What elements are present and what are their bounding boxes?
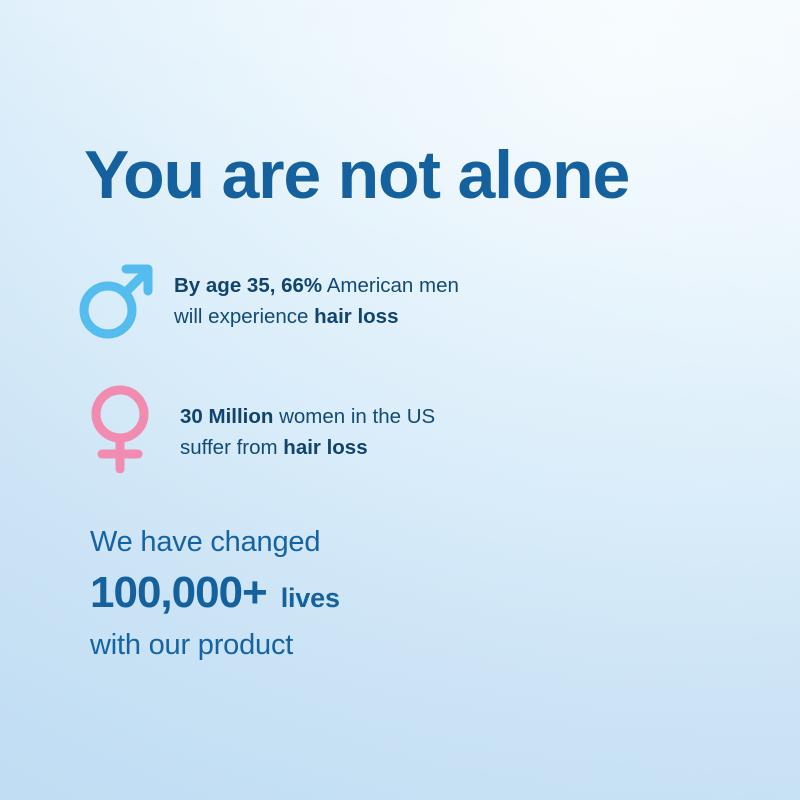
lives-changed-count: 100,000+	[90, 571, 267, 615]
stat-male-text: By age 35, 66% American men will experie…	[174, 258, 459, 333]
stat-male-keyword: hair loss	[314, 305, 398, 328]
male-gender-symbol-icon	[78, 258, 156, 340]
stat-male-highlight: By age 35, 66%	[174, 274, 322, 297]
stat-female-line2: suffer from hair loss	[180, 433, 435, 464]
closing-line-1: We have changed	[90, 528, 340, 557]
page-title: You are not alone	[84, 141, 629, 209]
closing-line-2: 100,000+ lives	[90, 571, 340, 615]
stat-male-line1: By age 35, 66% American men	[174, 271, 459, 302]
stat-female-line1: 30 Million women in the US	[180, 402, 435, 433]
stat-female-text: 30 Million women in the US suffer from h…	[180, 385, 435, 464]
female-gender-symbol-icon	[84, 385, 156, 473]
closing-line-3: with our product	[90, 631, 340, 660]
stat-female: 30 Million women in the US suffer from h…	[84, 385, 435, 473]
stat-female-highlight: 30 Million	[180, 405, 273, 428]
stat-male: By age 35, 66% American men will experie…	[78, 258, 459, 340]
stat-male-line2: will experience hair loss	[174, 302, 459, 333]
lives-changed-unit: lives	[281, 585, 340, 612]
closing-claim: We have changed 100,000+ lives with our …	[90, 528, 340, 660]
promo-poster: You are not alone By age 35, 66% America…	[0, 0, 800, 800]
poster-content: You are not alone By age 35, 66% America…	[0, 0, 800, 800]
stat-female-keyword: hair loss	[283, 436, 367, 459]
